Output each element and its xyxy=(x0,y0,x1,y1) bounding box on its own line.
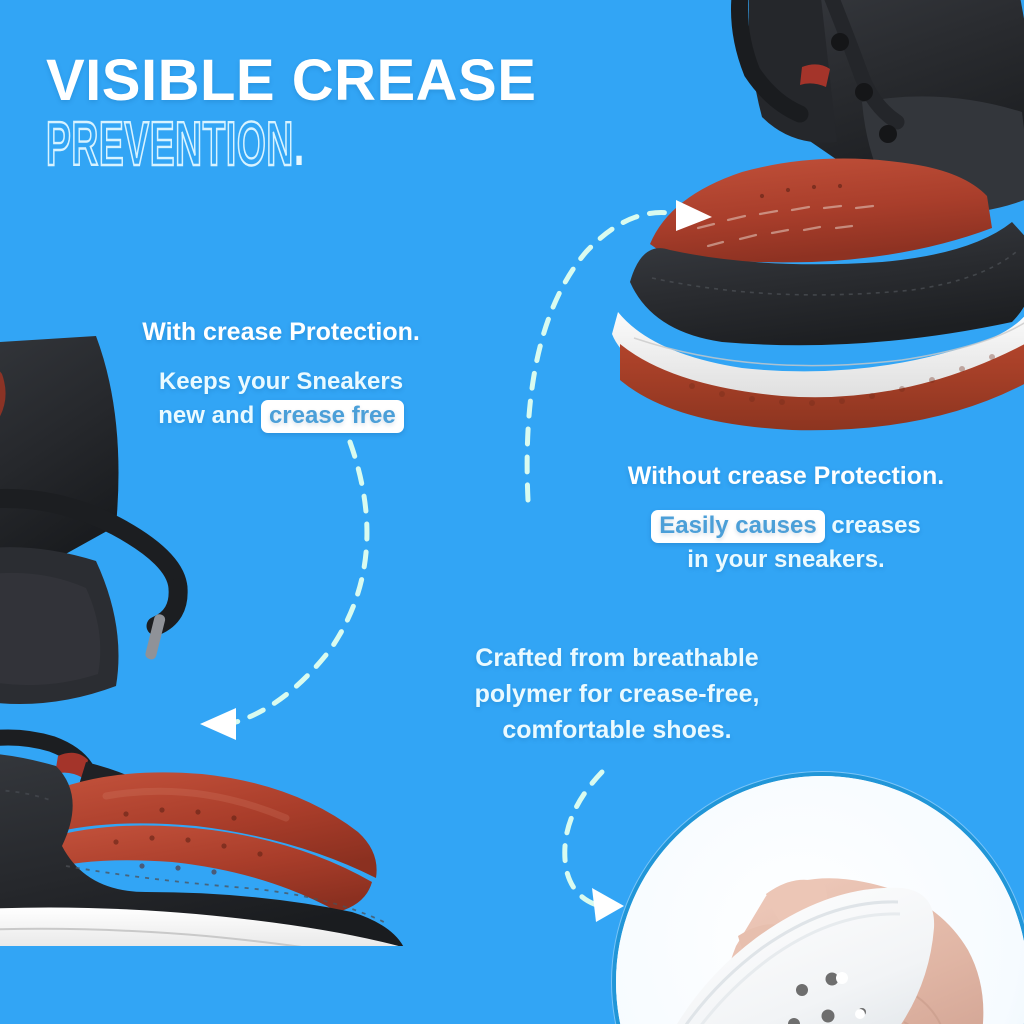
upper-shoe-image xyxy=(612,0,1024,452)
material-description-block: Crafted from breathable polymer for crea… xyxy=(432,640,802,748)
product-inset-image xyxy=(612,772,1024,1024)
material-line-2: polymer for crease-free, xyxy=(432,676,802,712)
with-protection-line-2: new and crease free xyxy=(96,399,466,433)
with-protection-block: With crease Protection. Keeps your Sneak… xyxy=(96,318,466,433)
without-protection-line-1: Easily causes creases xyxy=(576,509,996,543)
page-title: VISIBLE CREASE PREVENTION. xyxy=(46,52,666,176)
crease-free-badge: crease free xyxy=(261,400,404,433)
headline-line-2: PREVENTION. xyxy=(46,114,418,176)
easily-causes-badge: Easily causes xyxy=(651,510,824,543)
with-protection-heading: With crease Protection. xyxy=(96,318,466,347)
without-protection-block: Without crease Protection. Easily causes… xyxy=(576,462,996,577)
with-protection-prefix: new and xyxy=(158,402,254,429)
arrowhead-down-icon xyxy=(592,888,624,922)
with-protection-line-1: Keeps your Sneakers xyxy=(96,365,466,399)
advertisement-canvas: VISIBLE CREASE PREVENTION. With crease P… xyxy=(0,0,1024,1024)
material-line-1: Crafted from breathable xyxy=(432,640,802,676)
headline-line-1: VISIBLE CREASE xyxy=(46,52,666,110)
headline-line-2-text: PREVENTION xyxy=(46,110,294,179)
dashed-curved-arrow-down-icon xyxy=(565,772,602,906)
without-protection-heading: Without crease Protection. xyxy=(576,462,996,491)
headline-period: . xyxy=(294,110,305,179)
material-line-3: comfortable shoes. xyxy=(432,712,802,748)
without-protection-line-2: in your sneakers. xyxy=(576,543,996,577)
without-protection-suffix: creases xyxy=(831,512,920,539)
